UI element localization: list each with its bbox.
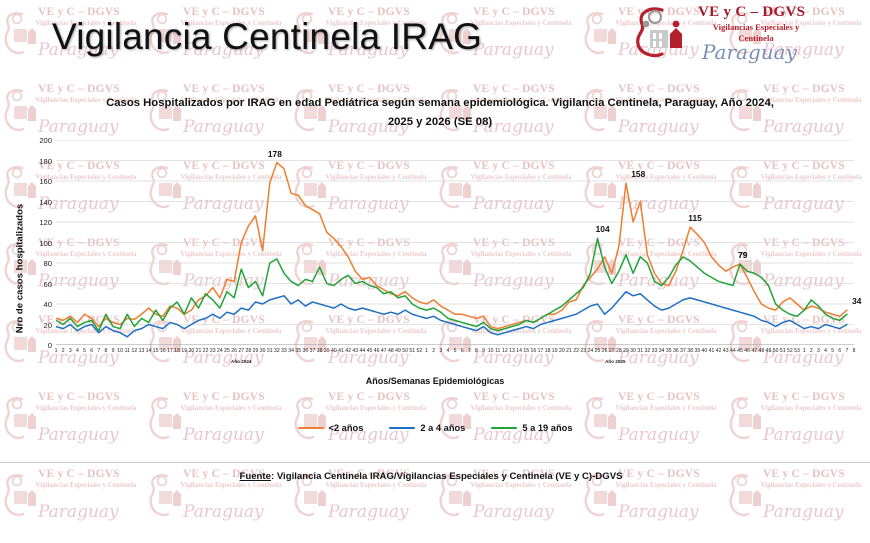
y-tick-label: 200 (26, 136, 52, 145)
y-tick-label: 60 (26, 280, 52, 289)
data-point-label: 79 (738, 250, 747, 260)
y-tick-label: 140 (26, 198, 52, 207)
y-tick-label: 80 (26, 259, 52, 268)
logo-country: Paraguay (702, 40, 797, 64)
logo-title: VE y C – DGVS (698, 4, 805, 21)
legend-label: 5 a 19 años (522, 423, 572, 433)
legend-item[interactable]: 2 a 4 años (389, 423, 465, 433)
chart-legend: <2 años2 a 4 años5 a 19 años (0, 419, 870, 437)
source-label: Fuente (240, 471, 271, 482)
x-axis-title: Años/Semanas Epidemiológicas (0, 376, 870, 386)
chart-title: Casos Hospitalizados por IRAG en edad Pe… (95, 94, 785, 132)
source-text: : Vigilancia Centinela IRAG/Vigilancias … (271, 471, 623, 482)
data-point-label: 104 (596, 224, 610, 234)
series-line (56, 238, 847, 330)
y-tick-label: 0 (26, 341, 52, 350)
y-tick-label: 40 (26, 300, 52, 309)
y-tick-label: 100 (26, 239, 52, 248)
chart-svg (56, 140, 854, 345)
data-point-label: 115 (688, 213, 702, 223)
source-note: Fuente: Vigilancia Centinela IRAG/Vigila… (240, 471, 623, 482)
legend-swatch (389, 427, 415, 430)
y-tick-label: 180 (26, 157, 52, 166)
x-axis-year-label: Año 2024 (211, 359, 271, 364)
data-point-label: 34 (852, 296, 861, 306)
legend-label: 2 a 4 años (420, 423, 465, 433)
legend-swatch (491, 427, 517, 430)
x-tick-label: 8 (850, 348, 859, 354)
y-axis-ticks: 020406080100120140160180200 (22, 140, 52, 345)
chart-title-line1: Casos Hospitalizados por IRAG en edad Pe… (106, 97, 661, 109)
y-tick-label: 20 (26, 321, 52, 330)
page-header: Vigilancia Centinela IRAG VE y C – DGVS … (0, 0, 870, 72)
legend-label: <2 años (329, 423, 364, 433)
y-tick-label: 160 (26, 177, 52, 186)
y-tick-label: 120 (26, 218, 52, 227)
footer: Fuente: Vigilancia Centinela IRAG/Vigila… (0, 466, 870, 484)
footer-divider (0, 462, 870, 463)
x-axis-ticks: 1234567891011121314151617181920212223242… (56, 348, 854, 362)
data-point-label: 158 (631, 169, 645, 179)
series-line (56, 292, 847, 337)
page-title: Vigilancia Centinela IRAG (52, 16, 482, 58)
legend-item[interactable]: <2 años (298, 423, 364, 433)
logo-mark-icon (632, 4, 698, 62)
plot-area: 178158115104797934 (56, 140, 854, 345)
data-point-label: 178 (268, 149, 282, 159)
chart-container: Casos Hospitalizados por IRAG en edad Pe… (0, 88, 870, 448)
legend-item[interactable]: 5 a 19 años (491, 423, 572, 433)
legend-swatch (298, 427, 324, 430)
x-axis-year-label: Año 2025 (585, 359, 645, 364)
logo: VE y C – DGVS Vigilancias Especiales y C… (632, 2, 832, 66)
